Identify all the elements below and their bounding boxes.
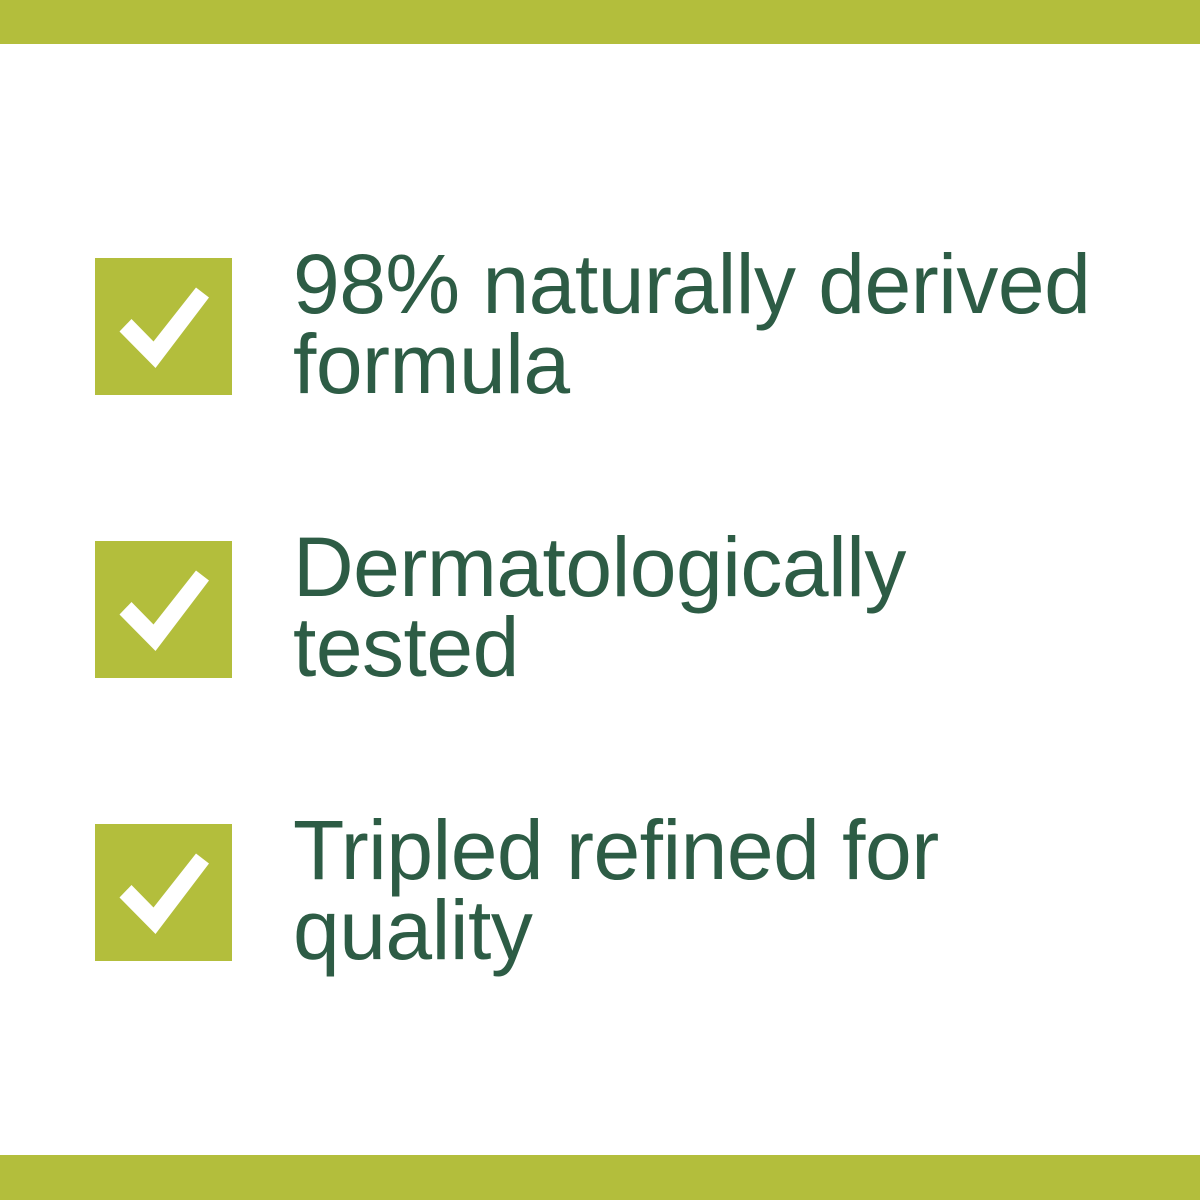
checkmark-icon [95,824,232,961]
checkbox-triple-refined[interactable] [95,824,232,961]
checkbox-natural-formula[interactable] [95,258,232,395]
checkbox-derm-tested[interactable] [95,541,232,678]
list-item-label: 98% naturally derived formula [293,244,1155,404]
list-item-label: Dermatologically tested [293,527,1155,687]
checkmark-icon [95,541,232,678]
list-item: Tripled refined for quality [95,824,1155,961]
benefits-checklist: 98% naturally derived formula Dermatolog… [95,258,1155,961]
list-item-label: Tripled refined for quality [293,810,1155,970]
bottom-accent-band [0,1155,1200,1200]
list-item: 98% naturally derived formula [95,258,1155,541]
top-accent-band [0,0,1200,44]
checkmark-icon [95,258,232,395]
list-item: Dermatologically tested [95,541,1155,824]
product-benefits-card: 98% naturally derived formula Dermatolog… [0,0,1200,1200]
